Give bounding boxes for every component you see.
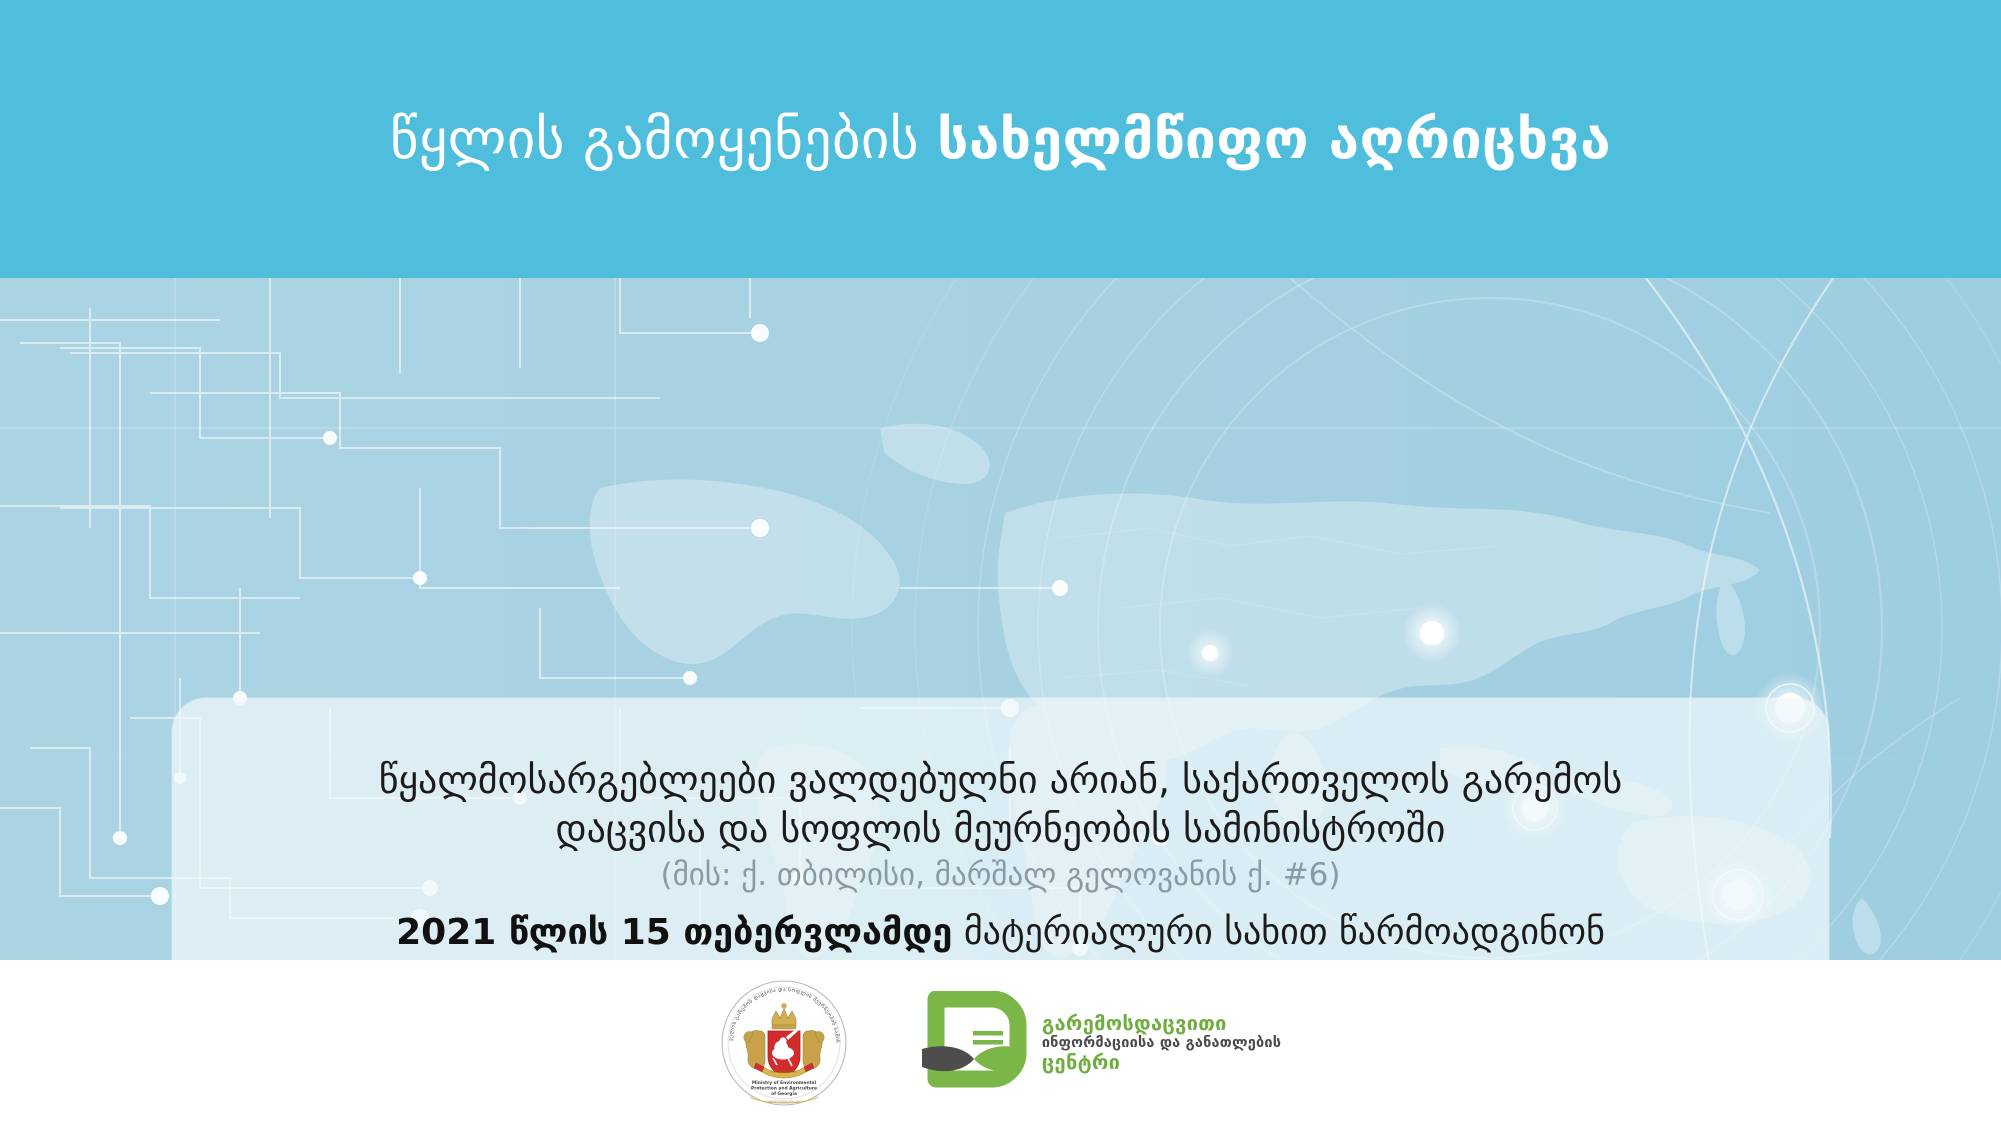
poster-root: წყლის გამოყენების სახელმწიფო აღრიცხვა <box>0 0 2001 1126</box>
eiec-line-3: ცენტრი <box>1042 1051 1281 1073</box>
page-title-bold: სახელმწიფო აღრიცხვა <box>937 107 1611 171</box>
page-title-light: წყლის გამოყენების <box>390 107 937 171</box>
page-title: წყლის გამოყენების სახელმწიფო აღრიცხვა <box>390 112 1611 167</box>
card-address: (მის: ქ. თბილისი, მარშალ გელოვანის ქ. #6… <box>660 856 1340 896</box>
footer-logos: საქართველოს გარემოს დაცვისა და სოფლის მე… <box>0 960 2001 1126</box>
card-deadline: 2021 წლის 15 თებერვლამდე მატერიალური სახ… <box>396 910 1605 956</box>
eiec-logo-mark <box>918 991 1028 1095</box>
card-line-2: დაცვისა და სოფლის მეურნეობის სამინისტროშ… <box>556 805 1446 854</box>
eiec-line-2: ინფორმაციისა და განათლების <box>1042 1035 1281 1051</box>
illustration-stage: წყალმოსარგებლეები ვალდებულნი არიან, საქა… <box>0 278 2001 960</box>
deadline-date: 2021 წლის 15 თებერვლამდე <box>396 912 952 953</box>
ministry-seal-logo: საქართველოს გარემოს დაცვისა და სოფლის მე… <box>720 979 848 1107</box>
seal-english-line-3: of Georgia <box>771 1091 797 1097</box>
seal-english-line-1: Ministry of Environmental <box>752 1080 817 1086</box>
card-line-1: წყალმოსარგებლეები ვალდებულნი არიან, საქა… <box>379 756 1623 805</box>
eiec-logo: გარემოსდაცვითი ინფორმაციისა და განათლები… <box>918 991 1281 1095</box>
seal-english-line-2: Protection and Agriculture <box>751 1086 817 1092</box>
header-band: წყლის გამოყენების სახელმწიფო აღრიცხვა <box>0 0 2001 278</box>
eiec-logo-text: გარემოსდაცვითი ინფორმაციისა და განათლები… <box>1042 1012 1281 1073</box>
content-card: წყალმოსარგებლეები ვალდებულნი არიან, საქა… <box>172 698 1829 960</box>
eiec-line-1: გარემოსდაცვითი <box>1042 1012 1281 1034</box>
svg-text:EST. REPUBLIC: EST. REPUBLIC <box>770 1070 798 1074</box>
deadline-rest: მატერიალური სახით წარმოადგინონ <box>952 912 1604 953</box>
